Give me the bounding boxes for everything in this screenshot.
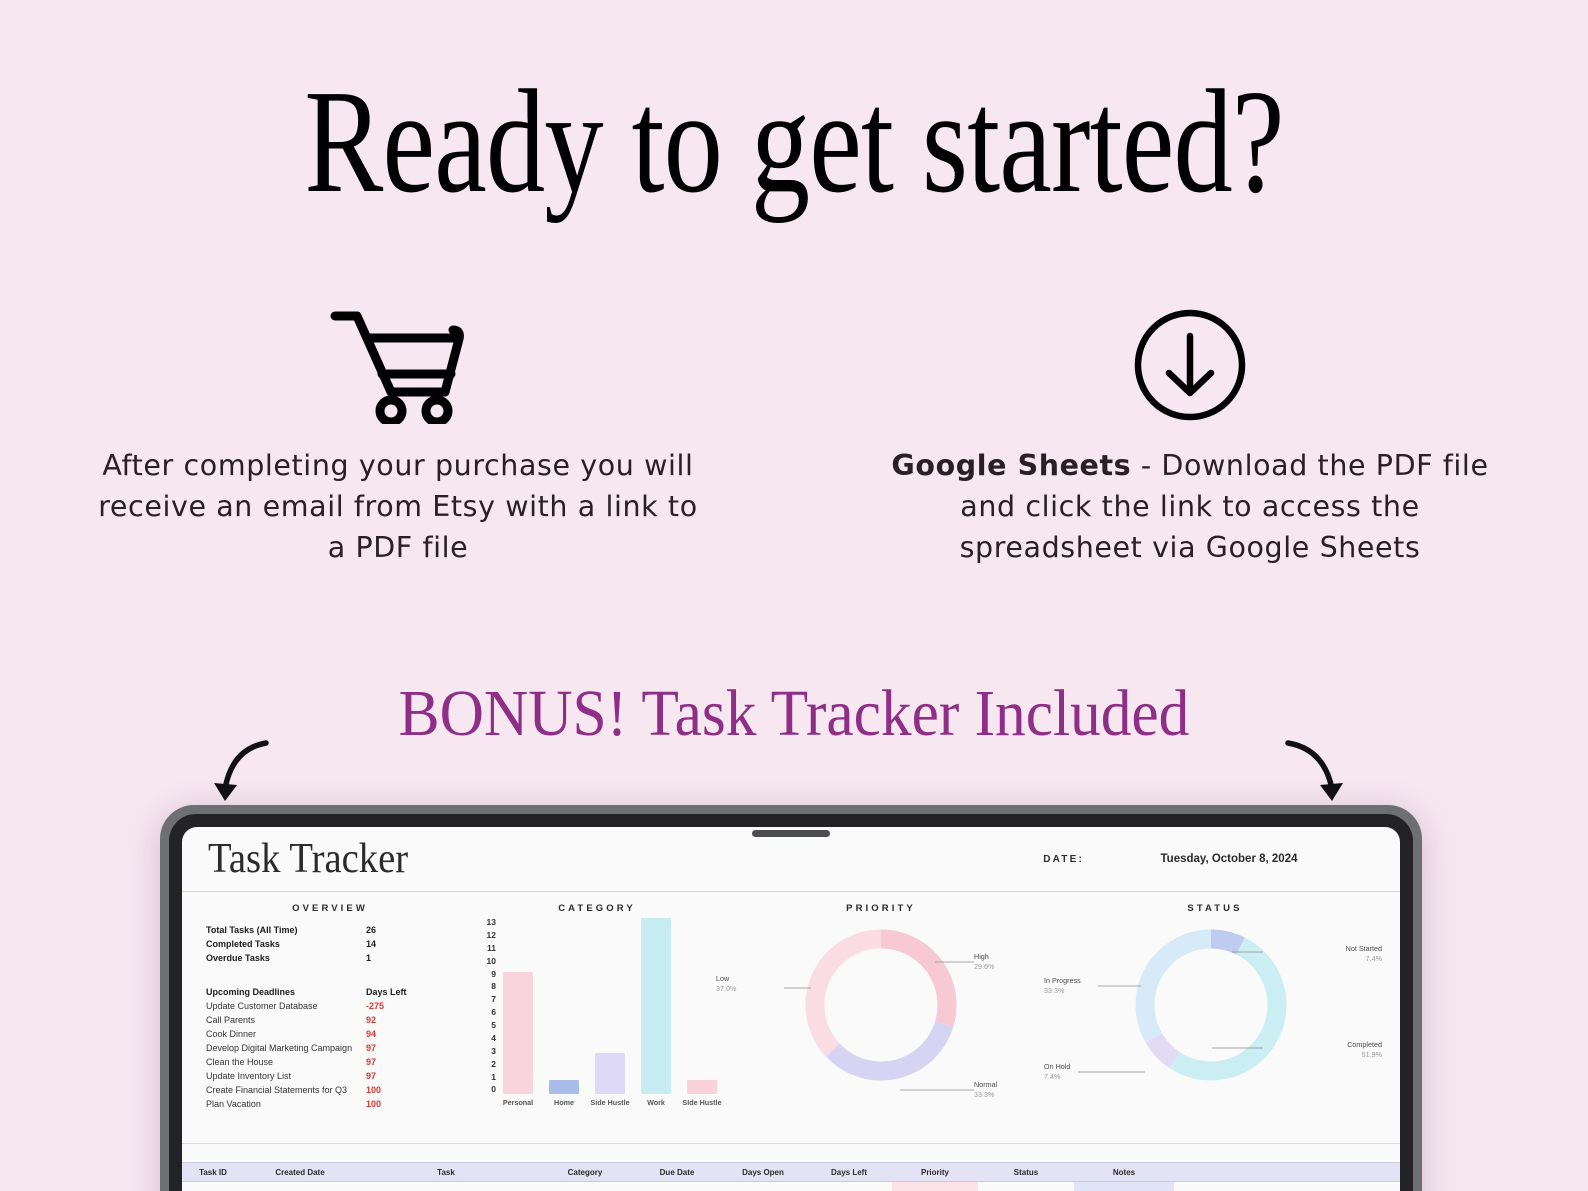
overview-stats: Total Tasks (All Time) 26 Completed Task… [194,923,466,965]
x-tick-label: Side Hustle [590,1098,630,1107]
category-x-labels: PersonalHomeSide HustleWorkSIde Hustle [498,1098,722,1107]
y-tick-label: 3 [491,1047,496,1056]
task-table-header: Task IDCreated DateTaskCategoryDue DateD… [182,1162,1400,1182]
priority-callout-high: High 29.6% [974,952,994,971]
download-circle-icon [840,285,1540,445]
priority-chart-title: PRIORITY [722,903,1040,914]
leader-line [1232,948,1264,956]
purchase-description: After completing your purchase you will … [48,445,748,568]
table-cell[interactable] [892,1182,978,1191]
status-callout-on-hold: On Hold 7.4% [1044,1062,1070,1081]
status-on-hold-value: 7.4% [1044,1072,1070,1082]
priority-donut-chart: Low 37.0% High 29.6% Normal 33.3% [722,914,1040,1124]
tablet-screen[interactable]: Task Tracker DATE: Tuesday, October 8, 2… [182,827,1400,1191]
table-cell[interactable] [244,1182,356,1191]
deadline-task: Update Customer Database [206,999,366,1013]
deadline-row: Update Inventory List 97 [206,1069,466,1083]
donut-segment [881,939,947,1024]
category-chart-panel: CATEGORY 131211109876543210 PersonalHome… [472,892,722,1143]
deadlines-header-label: Upcoming Deadlines [206,985,366,999]
status-on-hold-label: On Hold [1044,1062,1070,1072]
overview-title: OVERVIEW [194,903,466,914]
google-sheets-description: Google Sheets - Download the PDF file an… [840,445,1540,568]
tablet-device: Task Tracker DATE: Tuesday, October 8, 2… [160,805,1422,1191]
deadline-row: Clean the House 97 [206,1055,466,1069]
table-column-header[interactable]: Days Open [720,1168,806,1177]
deadline-task: Update Inventory List [206,1069,366,1083]
deadlines-header: Upcoming Deadlines Days Left [206,985,466,999]
y-tick-label: 9 [491,970,496,979]
upcoming-deadlines: Upcoming Deadlines Days Left Update Cust… [194,985,466,1111]
table-cell[interactable] [1074,1182,1174,1191]
deadline-row: Create Financial Statements for Q3 100 [206,1083,466,1097]
deadline-task: Clean the House [206,1055,366,1069]
deadlines-header-days: Days Left [366,985,426,999]
status-not-started-label: Not Started [1262,944,1382,954]
date-value: Tuesday, October 8, 2024 [1084,853,1374,865]
google-sheets-bold: Google Sheets [891,449,1131,482]
status-donut-chart: Not Started 7.4% In Progress 33.3% On Ho… [1040,914,1390,1124]
bar-column [687,1080,717,1094]
stat-label: Completed Tasks [206,937,366,951]
deadline-days: 100 [366,1083,426,1097]
category-y-axis: 131211109876543210 [472,918,496,1094]
status-completed-label: Completed [1262,1040,1382,1050]
bar [549,1080,579,1094]
table-cell[interactable] [806,1182,892,1191]
donut-segment [815,939,881,1050]
priority-normal-label: Normal [974,1080,997,1090]
bar-column [549,1080,579,1094]
x-tick-label: Home [544,1098,584,1107]
task-table-row[interactable] [182,1182,1400,1191]
date-label: DATE: [1043,854,1084,865]
deadline-task: Call Parents [206,1013,366,1027]
x-tick-label: SIde Hustle [682,1098,722,1107]
priority-low-label: Low [716,974,788,984]
deadline-days: 100 [366,1097,426,1111]
priority-low-value: 37.0% [716,984,788,994]
leader-line [784,984,812,992]
priority-callout-low: Low 37.0% [716,974,788,993]
category-bars [498,918,722,1094]
y-tick-label: 1 [491,1073,496,1082]
deadline-row: Update Customer Database -275 [206,999,466,1013]
category-bar-chart: 131211109876543210 PersonalHomeSide Hust… [472,918,722,1114]
y-tick-label: 6 [491,1008,496,1017]
curved-arrow-left-icon [196,735,276,812]
deadline-task: Create Financial Statements for Q3 [206,1083,366,1097]
deadline-task: Develop Digital Marketing Campaign [206,1041,366,1055]
deadline-days: 97 [366,1055,426,1069]
stat-label: Total Tasks (All Time) [206,923,366,937]
stat-row: Completed Tasks 14 [206,937,466,951]
deadline-task: Cook Dinner [206,1027,366,1041]
stat-value: 1 [366,951,426,965]
y-tick-label: 0 [491,1085,496,1094]
deadline-row: Cook Dinner 94 [206,1027,466,1041]
priority-high-value: 29.6% [974,962,994,972]
table-spacer [182,1144,1400,1162]
table-column-header[interactable]: Days Left [806,1168,892,1177]
x-tick-label: Work [636,1098,676,1107]
stat-row: Total Tasks (All Time) 26 [206,923,466,937]
status-in-progress-label: In Progress [1044,976,1081,986]
dashboard: OVERVIEW Total Tasks (All Time) 26 Compl… [182,892,1400,1144]
bar-column [595,1053,625,1094]
overview-panel: OVERVIEW Total Tasks (All Time) 26 Compl… [182,892,472,1143]
table-cell[interactable] [182,1182,244,1191]
donut-segment [1154,1038,1175,1060]
priority-chart-panel: PRIORITY Low 37.0% High 29.6% Normal [722,892,1040,1143]
deadline-days: 97 [366,1041,426,1055]
bar [503,972,533,1094]
tablet-bezel: Task Tracker DATE: Tuesday, October 8, 2… [169,814,1413,1191]
table-column-header[interactable]: Priority [892,1168,978,1177]
table-cell[interactable] [720,1182,806,1191]
table-column-header[interactable]: Due Date [634,1168,720,1177]
category-chart-title: CATEGORY [472,903,722,914]
curved-arrow-right-icon [1280,735,1360,812]
deadline-row: Develop Digital Marketing Campaign 97 [206,1041,466,1055]
leader-line [1212,1044,1264,1052]
table-column-header[interactable]: Task ID [182,1168,244,1177]
deadline-row: Plan Vacation 100 [206,1097,466,1111]
y-tick-label: 10 [487,957,496,966]
table-cell[interactable] [536,1182,634,1191]
status-callout-in-progress: In Progress 33.3% [1044,976,1081,995]
deadline-days: 97 [366,1069,426,1083]
deadline-days: 92 [366,1013,426,1027]
table-column-header[interactable]: Task [356,1168,536,1177]
y-tick-label: 8 [491,982,496,991]
x-tick-label: Personal [498,1098,538,1107]
table-cell[interactable] [356,1182,536,1191]
leader-line [1078,1068,1146,1076]
status-in-progress-value: 33.3% [1044,986,1081,996]
table-cell[interactable] [634,1182,720,1191]
priority-high-label: High [974,952,994,962]
deadline-days: 94 [366,1027,426,1041]
table-column-header[interactable]: Created Date [244,1168,356,1177]
leader-line [900,1086,975,1094]
status-chart-panel: STATUS Not Started 7.4% In Progress 33.3… [1040,892,1390,1143]
stat-label: Overdue Tasks [206,951,366,965]
page-title: Ready to get started? [159,68,1429,216]
status-not-started-value: 7.4% [1262,954,1382,964]
deadline-task: Plan Vacation [206,1097,366,1111]
leader-line [935,958,975,966]
donut-segment [833,1024,944,1071]
table-column-header[interactable]: Status [978,1168,1074,1177]
y-tick-label: 7 [491,995,496,1004]
feature-column-google-sheets: Google Sheets - Download the PDF file an… [840,285,1540,568]
y-tick-label: 12 [487,931,496,940]
donut-segment [1145,939,1211,1038]
priority-normal-value: 33.3% [974,1090,997,1100]
priority-callout-normal: Normal 33.3% [974,1080,997,1099]
stat-row: Overdue Tasks 1 [206,951,466,965]
spacer [194,965,466,978]
bar [595,1053,625,1094]
bar [687,1080,717,1094]
status-callout-not-started: Not Started 7.4% [1262,944,1382,963]
y-tick-label: 13 [487,918,496,927]
y-tick-label: 4 [491,1034,496,1043]
features-section: After completing your purchase you will … [0,285,1588,615]
feature-column-purchase: After completing your purchase you will … [48,285,748,568]
y-tick-label: 5 [491,1021,496,1030]
table-cell[interactable] [978,1182,1074,1191]
shopping-cart-icon [48,285,748,445]
deadline-days: -275 [366,999,426,1013]
deadline-row: Call Parents 92 [206,1013,466,1027]
stat-value: 26 [366,923,426,937]
status-callout-completed: Completed 51.9% [1262,1040,1382,1059]
stat-value: 14 [366,937,426,951]
sheet-title: Task Tracker [208,835,408,883]
status-chart-title: STATUS [1040,903,1390,914]
y-tick-label: 2 [491,1060,496,1069]
y-tick-label: 11 [487,944,496,953]
camera-notch-icon [752,830,830,837]
table-column-header[interactable]: Notes [1074,1168,1174,1177]
leader-line [1098,982,1142,990]
bar-column [503,972,533,1094]
donut-segment [1211,939,1241,946]
bar [641,918,671,1094]
bar-column [641,918,671,1094]
status-completed-value: 51.9% [1262,1050,1382,1060]
table-column-header[interactable]: Category [536,1168,634,1177]
